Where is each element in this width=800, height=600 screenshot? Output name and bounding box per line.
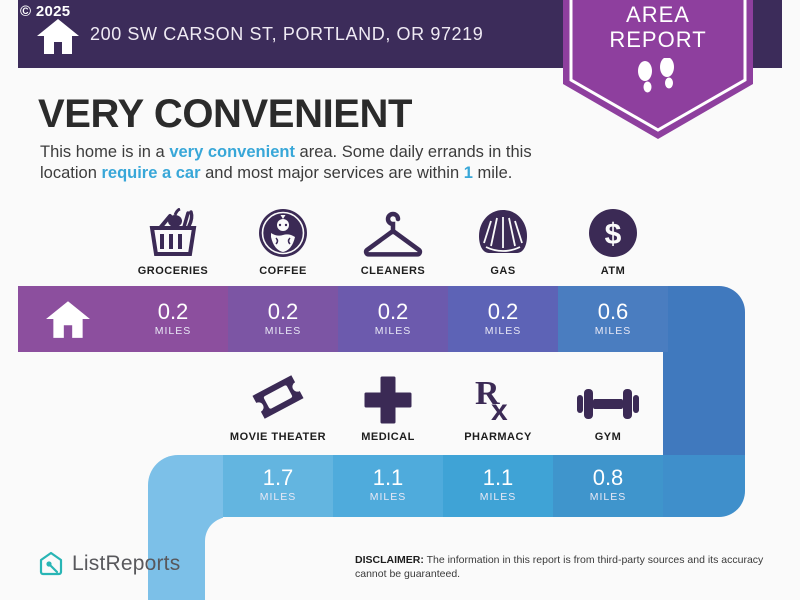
ribbon-segment-row1: 0.6MILES xyxy=(558,286,668,352)
summary-part-4: mile. xyxy=(473,164,512,182)
amenity-cell[interactable]: CLEANERS xyxy=(338,206,448,277)
ribbon-right-connector-upper xyxy=(663,286,745,455)
ribbon-segment-row2: 1.1MILES xyxy=(333,455,443,517)
badge-line-1: AREA xyxy=(563,2,753,27)
copyright-label: © 2025 xyxy=(20,3,70,20)
amenity-cell[interactable]: R x PHARMACY xyxy=(443,372,553,443)
badge-line-2: REPORT xyxy=(563,27,753,52)
area-report-badge: AREA REPORT xyxy=(563,0,753,141)
distance-unit: MILES xyxy=(223,491,333,503)
summary-highlight-3: 1 xyxy=(464,164,473,182)
distance-value: 0.2 xyxy=(448,300,558,324)
distance-value: 0.2 xyxy=(228,300,338,324)
distance-unit: MILES xyxy=(228,325,338,337)
amenity-label: MOVIE THEATER xyxy=(223,431,333,443)
listreports-house-tag-icon xyxy=(38,551,64,577)
ribbon-segment-row1: 0.2MILES xyxy=(118,286,228,352)
distance-value: 0.2 xyxy=(118,300,228,324)
dumbbell-icon xyxy=(553,372,663,424)
amenity-label: CLEANERS xyxy=(338,265,448,277)
distance-unit: MILES xyxy=(338,325,448,337)
ribbon-right-connector-lower xyxy=(663,455,745,517)
ribbon-segment-row1: 0.2MILES xyxy=(228,286,338,352)
ribbon-segment-row2: 0.8MILES xyxy=(553,455,663,517)
home-icon xyxy=(36,17,80,55)
svg-text:x: x xyxy=(491,394,508,424)
dollar-circle-icon: $ xyxy=(558,206,668,258)
listreports-logo[interactable]: ListReports xyxy=(38,551,180,577)
clothes-hanger-icon xyxy=(338,206,448,258)
medical-cross-icon xyxy=(333,372,443,424)
rx-prescription-icon: R x xyxy=(443,372,553,424)
disclaimer-label: DISCLAIMER: xyxy=(355,554,424,566)
badge-text: AREA REPORT xyxy=(563,2,753,52)
distance-unit: MILES xyxy=(558,325,668,337)
starbucks-coffee-icon xyxy=(228,206,338,258)
ribbon-home-cell xyxy=(18,286,118,352)
distance-unit: MILES xyxy=(333,491,443,503)
ribbon-segment-row2: 1.1MILES xyxy=(443,455,553,517)
amenity-label: GYM xyxy=(553,431,663,443)
amenity-cell[interactable]: GAS xyxy=(448,206,558,277)
listreports-logo-text: ListReports xyxy=(72,552,180,576)
amenity-cell[interactable]: MEDICAL xyxy=(333,372,443,443)
amenity-cell[interactable]: $ ATM xyxy=(558,206,668,277)
ribbon-segment-row1: 0.2MILES xyxy=(338,286,448,352)
ribbon-segment-row1: 0.2MILES xyxy=(448,286,558,352)
amenity-cell[interactable]: GYM xyxy=(553,372,663,443)
distance-unit: MILES xyxy=(553,491,663,503)
amenity-label: GROCERIES xyxy=(118,265,228,277)
amenity-cell[interactable]: COFFEE xyxy=(228,206,338,277)
distance-unit: MILES xyxy=(448,325,558,337)
summary-part-3: and most major services are within xyxy=(201,164,464,182)
amenity-label: COFFEE xyxy=(228,265,338,277)
distance-value: 0.2 xyxy=(338,300,448,324)
summary-paragraph: This home is in a very convenient area. … xyxy=(40,142,570,184)
amenity-cell[interactable]: GROCERIES xyxy=(118,206,228,277)
distance-value: 0.6 xyxy=(558,300,668,324)
summary-part-1: This home is in a xyxy=(40,143,169,161)
distance-value: 1.1 xyxy=(333,466,443,490)
svg-text:$: $ xyxy=(605,218,622,251)
ribbon-segment-row2: 1.7MILES xyxy=(223,455,333,517)
distance-value: 0.8 xyxy=(553,466,663,490)
distance-value: 1.7 xyxy=(223,466,333,490)
footprints-icon xyxy=(633,58,683,98)
movie-ticket-icon xyxy=(223,372,333,424)
home-icon xyxy=(45,299,91,339)
page-title: VERY CONVENIENT xyxy=(38,92,412,137)
grocery-basket-icon xyxy=(118,206,228,258)
amenity-label: PHARMACY xyxy=(443,431,553,443)
distance-unit: MILES xyxy=(118,325,228,337)
amenity-label: ATM xyxy=(558,265,668,277)
amenity-label: MEDICAL xyxy=(333,431,443,443)
amenity-cell[interactable]: MOVIE THEATER xyxy=(223,372,333,443)
shell-gas-icon xyxy=(448,206,558,258)
summary-highlight-1: very convenient xyxy=(169,143,295,161)
amenity-label: GAS xyxy=(448,265,558,277)
disclaimer: DISCLAIMER: The information in this repo… xyxy=(355,553,775,581)
area-report-page: © 2025 200 SW CARSON ST, PORTLAND, OR 97… xyxy=(0,0,800,600)
property-address: 200 SW CARSON ST, PORTLAND, OR 97219 xyxy=(90,24,483,45)
summary-highlight-2: require a car xyxy=(101,164,200,182)
distance-unit: MILES xyxy=(443,491,553,503)
distance-value: 1.1 xyxy=(443,466,553,490)
